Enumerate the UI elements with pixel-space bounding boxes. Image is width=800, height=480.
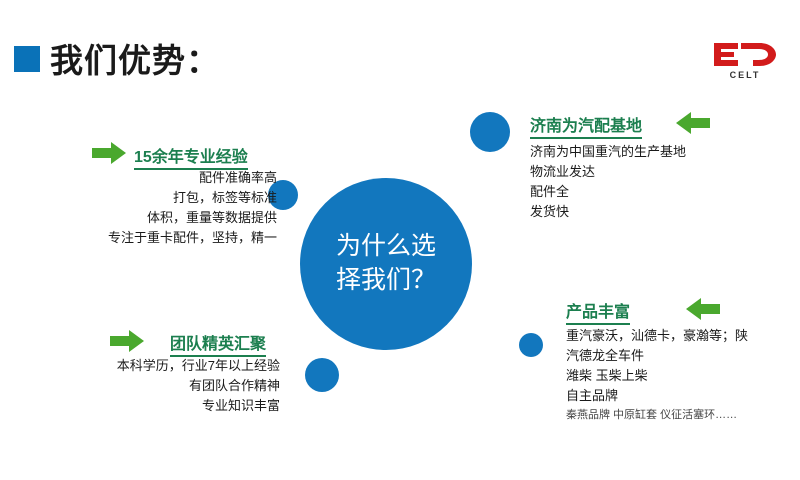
block-heading-products: 产品丰富 <box>566 298 630 322</box>
block-heading-experience: 15余年专业经验 <box>134 143 248 167</box>
block-line: 自主品牌 <box>566 386 748 406</box>
block-line: 体积，重量等数据提供 <box>62 208 277 228</box>
arrow-left-icon-products <box>686 298 720 320</box>
block-line: 潍柴 玉柴上柴 <box>566 366 748 386</box>
block-line: 专业知识丰富 <box>62 396 280 416</box>
center-line-2: 择我们？ <box>336 266 436 294</box>
node-dot-base <box>470 112 510 152</box>
node-dot-team <box>305 358 339 392</box>
block-line: 重汽豪沃，汕德卡，豪瀚等；陕 <box>566 326 748 346</box>
block-line: 专注于重卡配件，坚持，精一 <box>62 228 277 248</box>
logo-mark-icon <box>708 39 782 69</box>
block-line: 打包，标签等标准 <box>62 188 277 208</box>
block-body-products: 重汽豪沃，汕德卡，豪瀚等；陕 汽德龙全车件 潍柴 玉柴上柴 自主品牌 秦燕品牌 … <box>566 326 748 424</box>
block-line: 配件准确率高 <box>62 168 277 188</box>
arrow-right-icon-team <box>110 330 144 352</box>
block-line: 秦燕品牌 中原缸套 仪征活塞环…… <box>566 407 748 424</box>
block-body-team: 本科学历，行业7年以上经验 有团队合作精神 专业知识丰富 <box>62 356 280 416</box>
block-line: 汽德龙全车件 <box>566 346 748 366</box>
node-dot-products <box>519 333 543 357</box>
block-line: 配件全 <box>530 182 686 202</box>
block-line: 发货快 <box>530 202 686 222</box>
block-line: 本科学历，行业7年以上经验 <box>62 356 280 376</box>
block-line: 有团队合作精神 <box>62 376 280 396</box>
block-line: 济南为中国重汽的生产基地 <box>530 142 686 162</box>
center-line-1: 为什么选 <box>336 232 436 260</box>
block-heading-team: 团队精英汇聚 <box>170 330 266 354</box>
slide-canvas: 我们优势： CELT 为什么选 择我们？ <box>0 0 800 480</box>
celt-logo: CELT <box>706 36 784 82</box>
arrow-left-icon-base <box>676 112 710 134</box>
center-circle: 为什么选 择我们？ <box>300 178 472 350</box>
page-title: 我们优势： <box>50 34 220 82</box>
logo-text: CELT <box>730 70 761 80</box>
center-circle-text: 为什么选 择我们？ <box>326 230 446 298</box>
block-body-experience: 配件准确率高 打包，标签等标准 体积，重量等数据提供 专注于重卡配件，坚持，精一 <box>62 168 277 249</box>
block-heading-base: 济南为汽配基地 <box>530 112 642 136</box>
arrow-right-icon-experience <box>92 142 126 164</box>
title-bullet-icon <box>14 46 40 72</box>
block-body-base: 济南为中国重汽的生产基地 物流业发达 配件全 发货快 <box>530 142 686 223</box>
block-line: 物流业发达 <box>530 162 686 182</box>
